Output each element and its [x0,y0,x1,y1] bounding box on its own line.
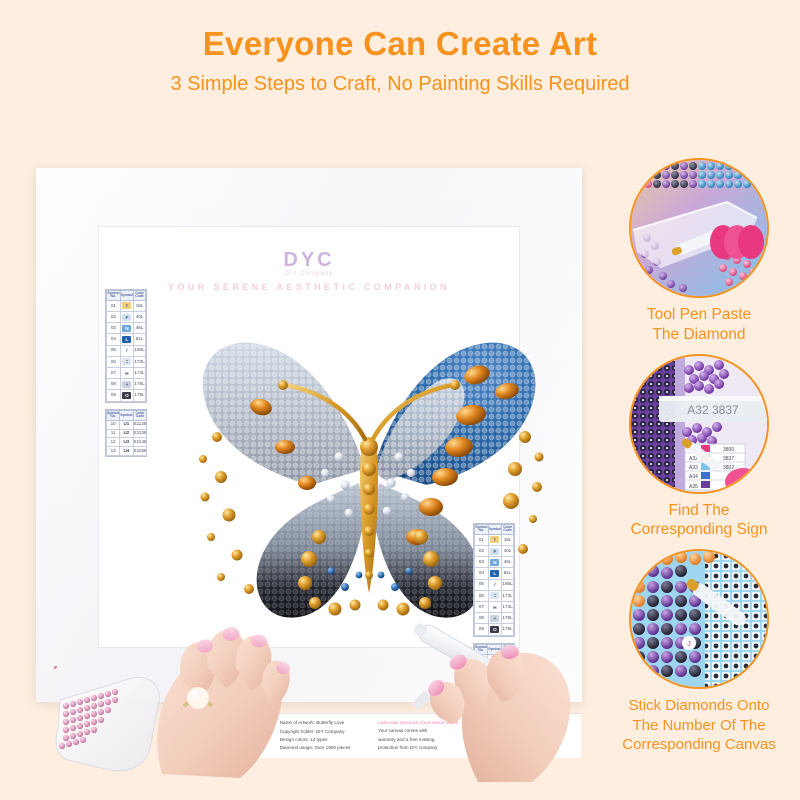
legend-header-symbol: Symbol [488,525,501,535]
info-column-warranty: CARE AND SHOW AS YOUR GREAT WORK Your ca… [374,719,484,753]
pen-over-diamond-bags-illustration [631,160,767,296]
table-row: 13U4S1156 [107,447,147,456]
legend-header-symbol: Symbol [120,411,133,421]
step-3-photo: J [629,549,769,689]
target-symbol: J [687,641,691,648]
legend-swatch: t [122,302,131,309]
table-row: 10U1S1126 [475,654,515,663]
color-legend-right-bottom: Symbol No. Symbol Color Code 10U1S1126 1… [473,643,515,691]
legend-swatch: / [122,347,131,354]
diamond-painting-canvas: DYC DIY Company YOUR SERENE AESTHETIC CO… [98,226,520,648]
legend-swatch: = [122,358,131,365]
legend-swatch: O [490,626,499,633]
legend-swatch: + [490,615,499,622]
product-info-bar: E D S C Name of Artwork: Butterfly Love … [161,713,581,758]
step-3: J Stick Diamonds Onto The Number Of The … [598,549,800,754]
step-1-photo [629,158,769,298]
legend-swatch: / [490,581,499,588]
info-column-labels: E D S C [200,719,276,753]
legend-swatch: L [490,570,499,577]
table-row: 05/166L [475,579,514,590]
legend-header-code: Color Code [133,411,147,421]
steps-column: Tool Pen Paste The Diamond [598,158,800,763]
table-row: 04L81L [475,568,514,579]
legend-swatch: + [122,381,131,388]
brand-sublabel: DIY Company [99,271,519,277]
table-row: 08+176L [475,613,514,624]
legend-swatch: F [490,548,499,555]
butterfly-artwork [159,287,579,687]
step-2-photo: A32 3837 A31 [629,354,769,494]
table-row: 09O179L [107,390,146,401]
table-row: 06=173L [107,356,146,367]
mini-legend-code: 3802 [723,465,734,471]
legend-swatch: = [490,592,499,599]
step-2: A32 3837 A31 [598,354,800,541]
legend-header-symbol: Symbol [488,645,501,655]
legend-swatch: H [122,370,131,377]
legend-header-code: Color Code [134,291,146,301]
canvas-photo-scene: DYC DIY Company YOUR SERENE AESTHETIC CO… [36,168,582,702]
table-row: 03N46L [475,557,514,568]
legend-header-no: Symbol No. [475,645,488,655]
table-row: 01t18L [107,300,146,311]
legend-swatch: N [490,559,499,566]
table-row: 03N46L [107,323,146,334]
table-row: 05/166L [107,345,146,356]
legend-header-code: Color Code [502,525,514,535]
mini-legend-no: A34 [689,474,698,480]
table-row: 07H174L [475,601,514,612]
table-row: 10U1S1126 [107,420,147,429]
mini-legend-code: 3800 [723,447,734,453]
page-title: Everyone Can Create Art [0,26,800,62]
infographic-root: Everyone Can Create Art 3 Simple Steps t… [0,0,800,800]
table-row: 11U2S1136 [475,663,515,672]
table-row: 02F40L [107,312,146,323]
page-subtitle: 3 Simple Steps to Craft, No Painting Ski… [0,73,800,95]
legend-swatch: F [122,314,131,321]
table-row: 12U3S1146 [107,438,147,447]
legend-header-symbol: Symbol [120,291,133,301]
legend-header-no: Symbol No. [475,525,489,535]
legend-swatch: t [490,536,499,543]
mini-legend-no: A35 [689,484,698,490]
ruler-code-text: A32 3837 [687,403,739,417]
table-row: 01t18L [475,534,514,545]
mini-legend-no: A33 [689,465,698,471]
table-row: 12U3S1146 [475,672,515,681]
legend-swatch: L [122,336,131,343]
step-2-caption: Find The Corresponding Sign [598,501,800,541]
diamonds-on-canvas-illustration: J [631,551,767,687]
step-1: Tool Pen Paste The Diamond [598,158,800,345]
legend-swatch: N [122,325,131,332]
step-1-caption: Tool Pen Paste The Diamond [598,305,800,345]
table-row: 04L81L [107,334,146,345]
info-column-support: IF THE SYMBOLS ARE NOT CLEAR support@diy… [484,723,581,748]
table-row: 06=173L [475,590,514,601]
table-row: 09O179L [475,624,514,635]
table-row: 02F40L [475,546,514,557]
brand-logo: DYC [99,249,519,272]
color-legend-right-top: Symbol No. Symbol Color Code 01t18L 02F4… [473,523,515,637]
legend-swatch: O [122,392,131,399]
color-legend-left-bottom: Symbol No. Symbol Color Code 10U1S1126 1… [105,409,147,457]
header: Everyone Can Create Art 3 Simple Steps t… [0,0,800,95]
legend-swatch: H [490,604,499,611]
table-row: 08+176L [107,379,146,390]
legend-header-no: Symbol No. [107,291,121,301]
legend-header-code: Color Code [501,645,515,655]
table-row: 13U4S1156 [475,681,515,690]
table-row: 07H174L [107,367,146,378]
mini-legend-code: 3837 [723,456,734,462]
legend-header-no: Symbol No. [107,411,120,421]
pink-diamond-bag [54,666,172,778]
info-column-artwork: Name of Artwork: Butterfly Love Copyrigh… [276,719,374,753]
table-row: 11U2S1136 [107,429,147,438]
step-3-caption: Stick Diamonds Onto The Number Of The Co… [598,696,800,754]
color-legend-left-top: Symbol No. Symbol Color Code 01t18L 02F4… [105,289,147,403]
ruler-and-code-illustration: A32 3837 A31 [631,356,767,492]
